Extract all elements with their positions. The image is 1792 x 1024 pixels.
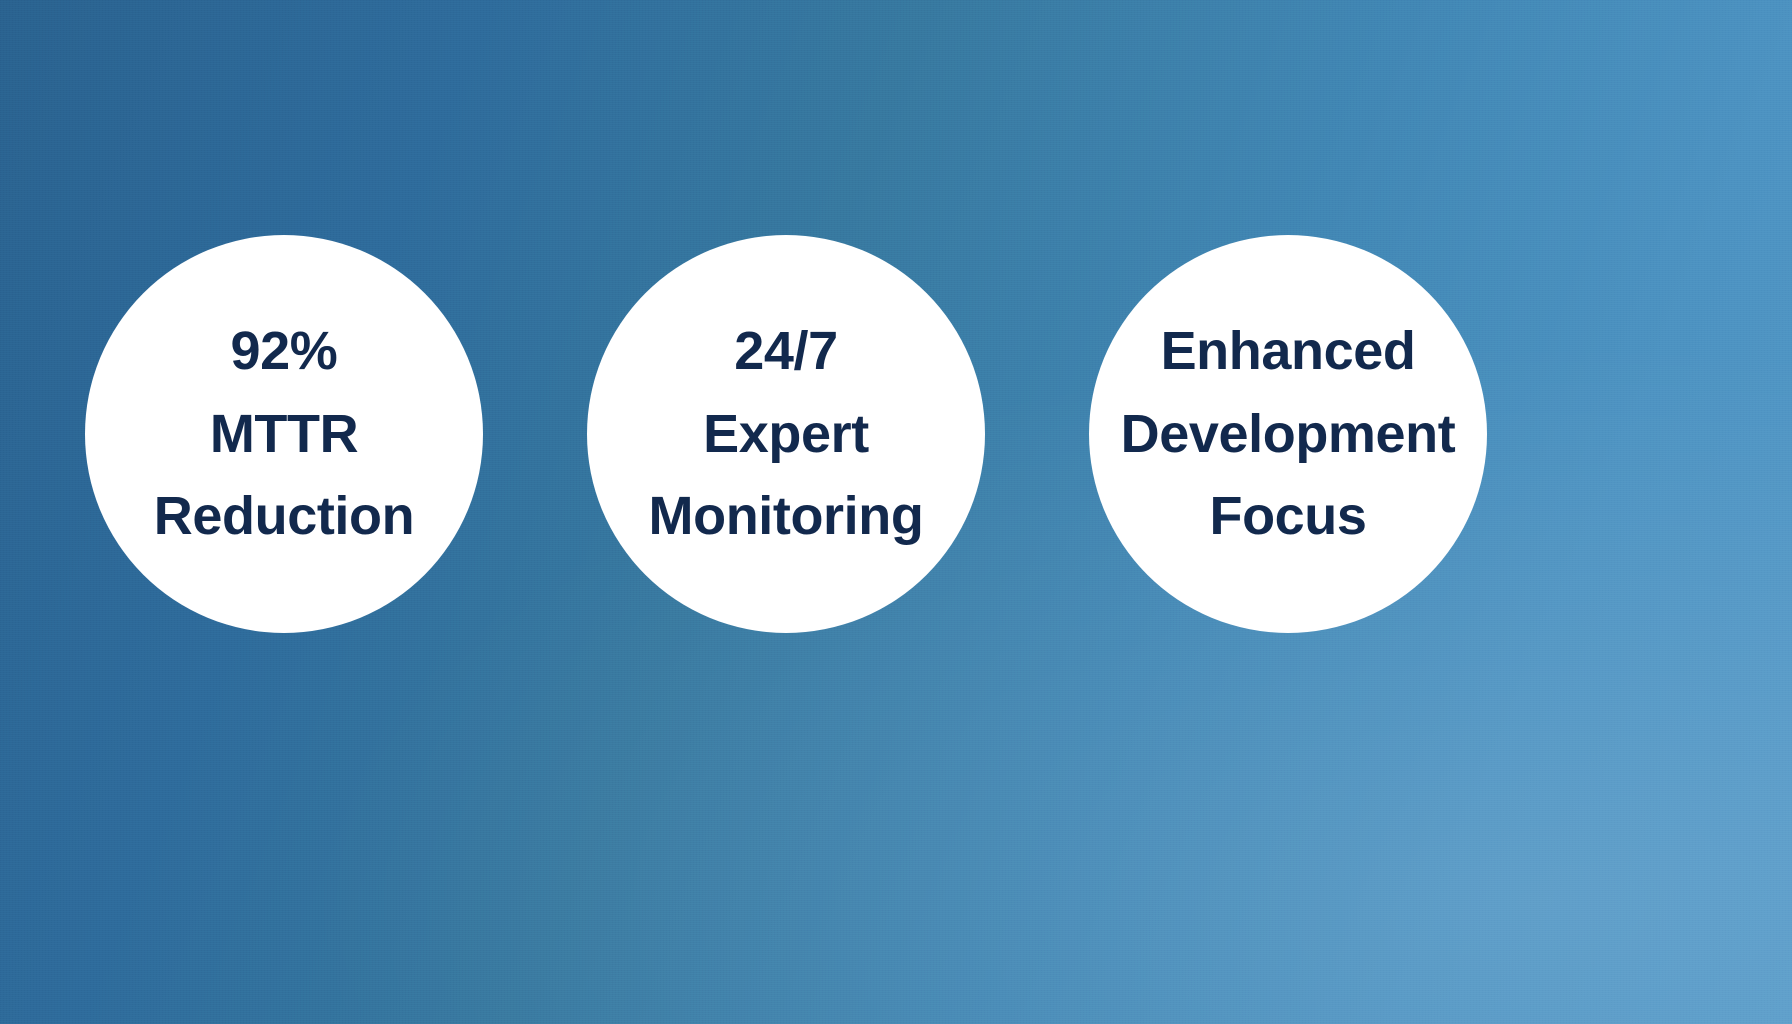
stat-label-development-focus: Enhanced Development Focus (1089, 235, 1487, 633)
stat-label-mttr-reduction: 92% MTTR Reduction (85, 235, 483, 633)
stat-line-tertiary: Monitoring (649, 475, 924, 558)
stat-line-primary: Enhanced (1161, 310, 1416, 393)
stat-line-tertiary: Reduction (154, 475, 414, 558)
stat-line-tertiary: Focus (1209, 475, 1366, 558)
stat-label-expert-monitoring: 24/7 Expert Monitoring (587, 235, 985, 633)
stat-line-secondary: Expert (703, 393, 869, 476)
stat-highlights-graphic: 92% MTTR Reduction 24/7 Expert Monitorin… (0, 0, 1792, 1024)
stat-line-primary: 92% (231, 310, 338, 393)
stat-line-secondary: Development (1121, 393, 1456, 476)
stat-line-secondary: MTTR (210, 393, 358, 476)
stat-line-primary: 24/7 (734, 310, 838, 393)
stat-circle-group: 92% MTTR Reduction 24/7 Expert Monitorin… (0, 0, 1792, 1024)
